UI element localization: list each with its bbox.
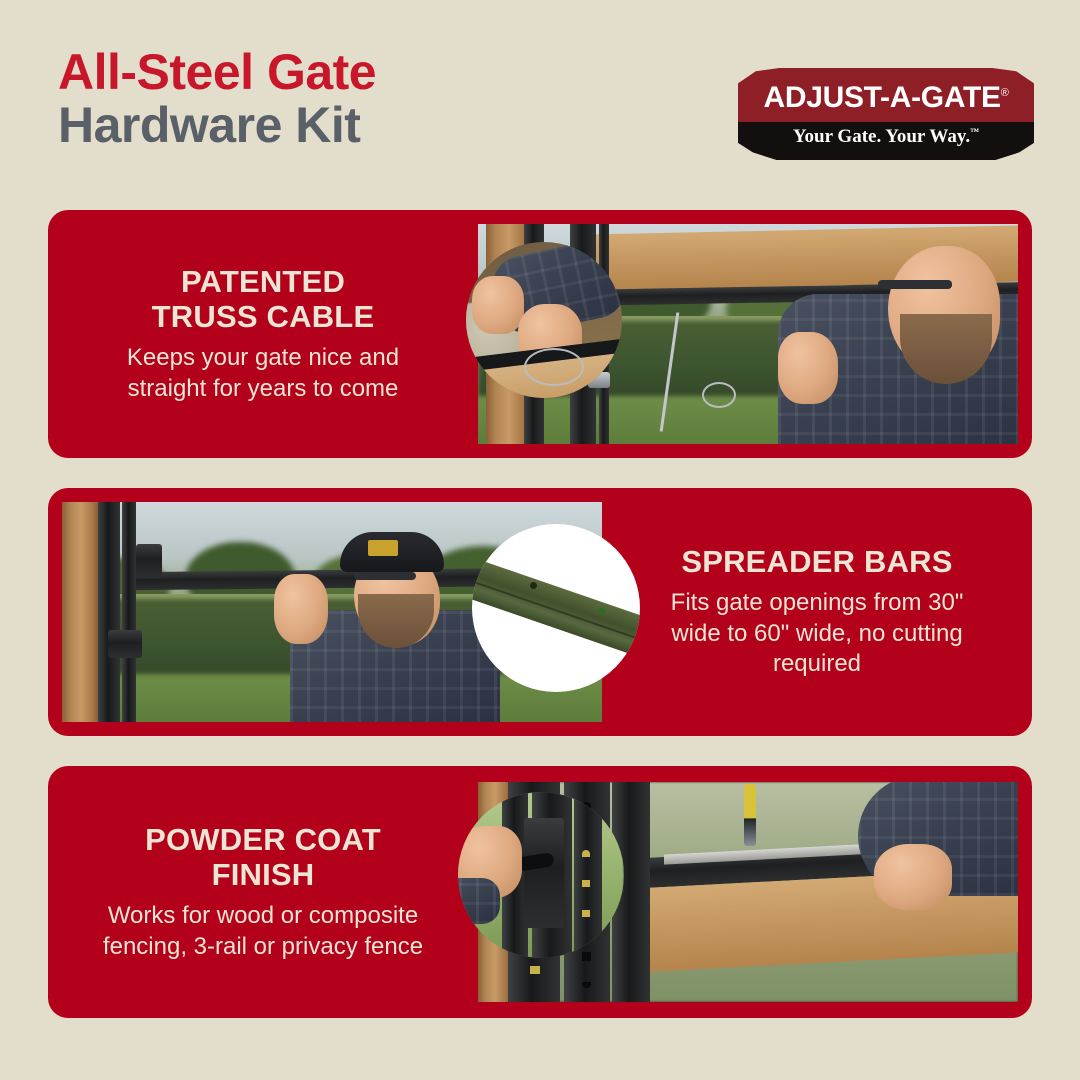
feature-panel-powder-coat-finish: POWDER COAT FINISH Works for wood or com…: [48, 766, 1032, 1018]
photo-steel-post-b: [122, 502, 136, 722]
inset-latch-plate: [524, 818, 564, 928]
feature-heading-line-2: TRUSS CABLE: [152, 299, 375, 334]
photo-bracket: [136, 544, 162, 578]
photo-person-hand: [874, 844, 952, 910]
feature-panel-patented-truss-cable: PATENTED TRUSS CABLE Keeps your gate nic…: [48, 210, 1032, 458]
feature-body: Keeps your gate nice and straight for ye…: [93, 343, 433, 404]
feature-body: Fits gate openings from 30" wide to 60" …: [647, 588, 987, 679]
title-line-2: Hardware Kit: [58, 101, 376, 150]
feature-panel-spreader-bars: SPREADER BARS Fits gate openings from 30…: [48, 488, 1032, 736]
photo-person-glasses: [354, 572, 416, 580]
logo-brand-name: ADJUST-A-GATE®: [738, 81, 1034, 115]
photo-person-glasses: [878, 280, 952, 289]
feature-heading: PATENTED TRUSS CABLE: [152, 264, 375, 334]
registered-trademark-icon: ®: [1001, 87, 1009, 99]
photo-cap-logo: [368, 540, 398, 556]
header: All-Steel Gate Hardware Kit ADJUST-A-GAT…: [0, 0, 1080, 190]
feature-body: Works for wood or composite fencing, 3-r…: [93, 901, 433, 962]
feature-heading-line-1: SPREADER BARS: [681, 544, 952, 579]
inset-bar-hole-a: [530, 582, 537, 589]
photo-person-hand: [778, 332, 838, 404]
feature-text-truss-cable: PATENTED TRUSS CABLE Keeps your gate nic…: [48, 210, 478, 458]
logo-tagline: Your Gate. Your Way.™: [738, 126, 1034, 148]
title-line-1: All-Steel Gate: [58, 48, 376, 97]
photo-cable-loop: [702, 382, 736, 408]
page-title: All-Steel Gate Hardware Kit: [58, 48, 376, 150]
feature-inset-powder-coat: [458, 792, 624, 958]
photo-person-hand: [274, 574, 328, 644]
feature-heading: POWDER COAT FINISH: [145, 822, 381, 892]
feature-inset-truss-cable: [466, 242, 622, 398]
feature-heading-line-1: PATENTED: [181, 264, 345, 299]
inset-hand-left: [472, 276, 524, 334]
inset-screws: [582, 850, 590, 934]
logo-brand-name-text: ADJUST-A-GATE: [763, 81, 1000, 114]
feature-heading: SPREADER BARS: [681, 544, 952, 579]
photo-steel-post-a: [98, 502, 120, 722]
feature-heading-line-1: POWDER COAT: [145, 822, 381, 857]
feature-text-powder-coat: POWDER COAT FINISH Works for wood or com…: [48, 766, 478, 1018]
photo-screwdriver: [744, 784, 756, 846]
photo-wood-post: [62, 502, 100, 722]
feature-text-spreader-bars: SPREADER BARS Fits gate openings from 30…: [602, 488, 1032, 736]
feature-heading-line-2: FINISH: [212, 857, 315, 892]
photo-lower-bracket: [108, 630, 142, 658]
trademark-icon: ™: [970, 127, 979, 137]
brand-logo: ADJUST-A-GATE® Your Gate. Your Way.™: [738, 68, 1034, 160]
inset-cable-loop: [524, 348, 584, 386]
logo-tagline-text: Your Gate. Your Way.: [793, 126, 970, 147]
